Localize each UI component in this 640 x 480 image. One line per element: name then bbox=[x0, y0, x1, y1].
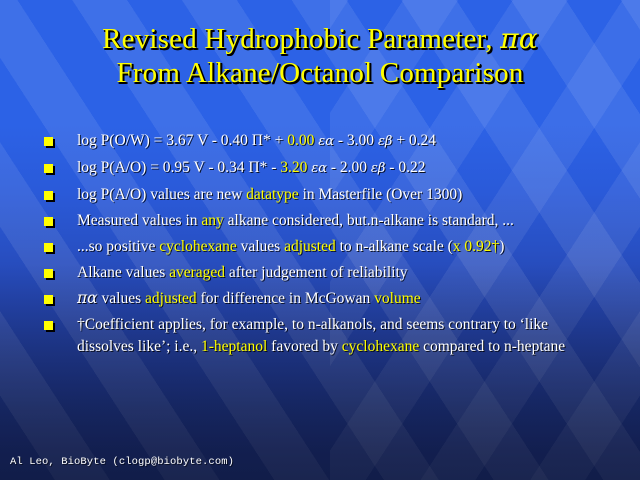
text-run: - bbox=[267, 159, 280, 176]
text-run: Π* bbox=[248, 159, 267, 176]
bullet-alkane-averaged: Alkane values averaged after judgement o… bbox=[44, 262, 634, 284]
text-run: alkane considered, but.n-alkane is stand… bbox=[224, 212, 514, 229]
bullet-cyclohexane-adjusted: ...so positive cyclohexane values adjust… bbox=[44, 236, 634, 258]
text-run: after judgement of reliability bbox=[225, 264, 408, 281]
text-run: values bbox=[237, 238, 284, 255]
title-line-2: From Alkane/Octanol Comparison bbox=[0, 56, 640, 90]
bullet-text: log P(O/W) = 3.67 V - 0.40 Π* + 0.00 εα … bbox=[77, 130, 634, 153]
highlighted-term: adjusted bbox=[145, 290, 197, 307]
bullet-square-icon bbox=[44, 269, 53, 278]
highlighted-term: datatype bbox=[246, 186, 299, 203]
title-pi-alpha-symbol: πα bbox=[500, 22, 538, 55]
slide-title: Revised Hydrophobic Parameter, πα From A… bbox=[0, 22, 640, 90]
bullet-coefficient-footnote: †Coefficient applies, for example, to n-… bbox=[44, 314, 634, 357]
text-run: favored by bbox=[267, 338, 341, 355]
slide-content: Revised Hydrophobic Parameter, πα From A… bbox=[0, 0, 640, 480]
text-run: - 2.00 bbox=[327, 159, 371, 176]
highlighted-term: adjusted bbox=[284, 238, 336, 255]
greek-symbol: εβ bbox=[371, 161, 386, 176]
text-run: ...so positive bbox=[77, 238, 159, 255]
greek-symbol: εβ bbox=[378, 134, 393, 149]
highlighted-term: x 0.92† bbox=[453, 238, 500, 255]
text-run: - 3.00 bbox=[334, 132, 378, 149]
footer-credit: Al Leo, BioByte (clogp@biobyte.com) bbox=[10, 456, 234, 468]
title-line-1-text: Revised Hydrophobic Parameter, bbox=[102, 23, 500, 55]
title-line-1: Revised Hydrophobic Parameter, πα bbox=[0, 22, 640, 56]
text-run: - 0.22 bbox=[385, 159, 425, 176]
text-run: Π* bbox=[252, 132, 271, 149]
greek-symbol: εα bbox=[318, 134, 334, 149]
bullet-text: πα values adjusted for difference in McG… bbox=[77, 288, 634, 310]
text-run: log P(O/W) = 3.67 V - 0.40 bbox=[77, 132, 252, 149]
bullet-square-icon bbox=[44, 295, 53, 304]
greek-symbol: εα bbox=[311, 161, 327, 176]
bullet-square-icon bbox=[44, 164, 53, 173]
highlighted-term: 3.20 bbox=[280, 159, 307, 176]
text-run: log P(A/O) values are new bbox=[77, 186, 246, 203]
text-run: Measured values in bbox=[77, 212, 201, 229]
highlighted-term: 1-heptanol bbox=[201, 338, 267, 355]
bullet-text: ...so positive cyclohexane values adjust… bbox=[77, 236, 634, 258]
text-run: for difference in McGowan bbox=[197, 290, 374, 307]
text-run: compared to n-heptane bbox=[419, 338, 565, 355]
bullet-square-icon bbox=[44, 137, 53, 146]
highlighted-term: averaged bbox=[169, 264, 225, 281]
highlighted-term: cyclohexane bbox=[342, 338, 419, 355]
bullet-pi-alpha-mcgowan: πα values adjusted for difference in McG… bbox=[44, 288, 634, 310]
bullet-text: log P(A/O) = 0.95 V - 0.34 Π* - 3.20 εα … bbox=[77, 157, 634, 180]
bullet-text: log P(A/O) values are new datatype in Ma… bbox=[77, 184, 634, 206]
text-run: + 0.24 bbox=[392, 132, 436, 149]
highlighted-term: volume bbox=[374, 290, 421, 307]
text-run: Alkane values bbox=[77, 264, 169, 281]
text-run: values bbox=[98, 290, 145, 307]
bullet-square-icon bbox=[44, 321, 53, 330]
bullet-text: Alkane values averaged after judgement o… bbox=[77, 262, 634, 284]
text-run: + bbox=[271, 132, 288, 149]
bullet-square-icon bbox=[44, 243, 53, 252]
text-run: log P(A/O) = 0.95 V - 0.34 bbox=[77, 159, 248, 176]
bullet-log-pao: log P(A/O) = 0.95 V - 0.34 Π* - 3.20 εα … bbox=[44, 157, 634, 180]
text-run: ) bbox=[499, 238, 504, 255]
bullet-datatype: log P(A/O) values are new datatype in Ma… bbox=[44, 184, 634, 206]
bullet-measured-values: Measured values in any alkane considered… bbox=[44, 210, 634, 232]
text-run: in Masterfile (Over 1300) bbox=[299, 186, 463, 203]
highlighted-term: any bbox=[201, 212, 223, 229]
bullet-square-icon bbox=[44, 191, 53, 200]
highlighted-term: cyclohexane bbox=[159, 238, 236, 255]
bullet-square-icon bbox=[44, 217, 53, 226]
highlighted-term: 0.00 bbox=[287, 132, 314, 149]
greek-symbol: πα bbox=[77, 289, 98, 307]
bullet-text: Measured values in any alkane considered… bbox=[77, 210, 634, 232]
bullet-log-pow: log P(O/W) = 3.67 V - 0.40 Π* + 0.00 εα … bbox=[44, 130, 634, 153]
bullet-text: †Coefficient applies, for example, to n-… bbox=[77, 314, 597, 357]
text-run: to n-alkane scale ( bbox=[336, 238, 453, 255]
slide-canvas: Revised Hydrophobic Parameter, πα From A… bbox=[0, 0, 640, 480]
bullet-list: log P(O/W) = 3.67 V - 0.40 Π* + 0.00 εα … bbox=[44, 130, 634, 362]
